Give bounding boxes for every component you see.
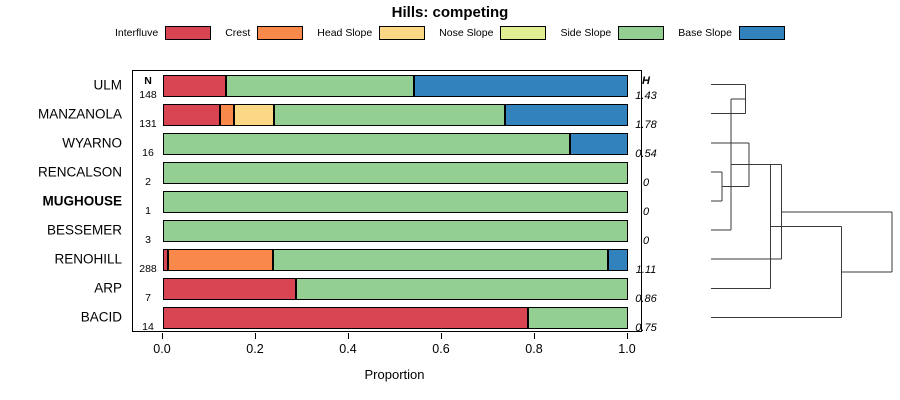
h-value: 0.75 [635,322,656,334]
bar-segment [163,278,296,300]
legend-entry: Side Slope [560,26,664,40]
bar-segment [226,75,414,97]
legend-swatch-icon [257,26,303,40]
bar-segment [505,104,628,126]
n-value: 131 [139,118,157,130]
n-value: 288 [139,263,157,275]
h-value: 1.78 [635,119,656,131]
bar-segment [234,104,274,126]
bar-segment [163,75,226,97]
y-axis-label: RENCALSON [38,164,122,179]
x-axis-tick [348,333,349,339]
legend-entry: Base Slope [678,26,785,40]
x-axis-tick-label: 0.2 [246,342,263,356]
n-value: 148 [139,89,157,101]
y-axis-label: MUGHOUSE [42,194,122,209]
bar-segment [414,75,628,97]
n-value: 7 [145,292,151,304]
n-value: 1 [145,205,151,217]
legend-label: Nose Slope [439,27,493,39]
x-axis-tick-label: 1.0 [618,342,635,356]
bar-segment [163,104,220,126]
y-axis-label: BESSEMER [47,223,122,238]
legend-swatch-icon [618,26,664,40]
h-value: 0.54 [635,148,656,160]
y-axis-label: RENOHILL [54,252,122,267]
legend-swatch-icon [165,26,211,40]
legend-label: Head Slope [317,27,372,39]
n-value: 3 [145,234,151,246]
x-axis-title: Proportion [365,367,425,382]
legend-label: Base Slope [678,27,732,39]
dendrogram [680,70,900,332]
legend-swatch-icon [739,26,785,40]
legend-entry: Interfluve [115,26,211,40]
h-value: 0 [643,235,649,247]
bar-segment [168,249,273,271]
bar-segment [528,307,628,329]
y-axis-label: ARP [94,281,122,296]
x-axis-tick-label: 0.0 [153,342,170,356]
n-value: 2 [145,176,151,188]
column-header-h: H [642,75,650,87]
bar-segment [163,220,628,242]
bar-segment [220,104,234,126]
legend-entry: Head Slope [317,26,425,40]
y-axis-label: ULM [93,77,122,92]
stacked-bar-panel: NH1481.431311.78160.542010302881.1170.86… [132,70,642,332]
legend-label: Interfluve [115,27,158,39]
n-value: 14 [142,321,154,333]
legend-swatch-icon [379,26,425,40]
bar-segment [570,133,628,155]
legend-label: Crest [225,27,250,39]
y-axis-label: WYARNO [62,135,122,150]
h-value: 0 [643,177,649,189]
bar-segment [273,249,608,271]
x-axis-tick [162,333,163,339]
column-header-n: N [144,75,152,87]
x-axis-tick [441,333,442,339]
y-axis-label: BACID [81,310,122,325]
legend-entry: Crest [225,26,303,40]
bar-segment [608,249,628,271]
n-value: 16 [142,147,154,159]
bar-segment [296,278,628,300]
chart-title: Hills: competing [0,4,900,21]
bar-segment [163,307,528,329]
x-axis-tick-label: 0.4 [339,342,356,356]
x-axis-tick [627,333,628,339]
legend: InterfluveCrestHead SlopeNose SlopeSide … [0,26,900,40]
bar-segment [163,191,628,213]
bar-segment [163,133,570,155]
bar-segment [274,104,505,126]
h-value: 1.11 [636,264,657,276]
h-value: 1.43 [635,90,656,102]
x-axis-tick [255,333,256,339]
x-axis-tick [534,333,535,339]
h-value: 0.86 [635,293,656,305]
x-axis-tick-label: 0.8 [525,342,542,356]
y-axis-label: MANZANOLA [38,106,122,121]
legend-label: Side Slope [560,27,611,39]
bar-segment [163,162,628,184]
h-value: 0 [643,206,649,218]
legend-swatch-icon [500,26,546,40]
x-axis-tick-label: 0.6 [432,342,449,356]
legend-entry: Nose Slope [439,26,546,40]
chart-root: Hills: competing InterfluveCrestHead Slo… [0,0,900,400]
dendrogram-svg [680,70,900,332]
y-axis-labels: ULMMANZANOLAWYARNORENCALSONMUGHOUSEBESSE… [0,70,128,332]
